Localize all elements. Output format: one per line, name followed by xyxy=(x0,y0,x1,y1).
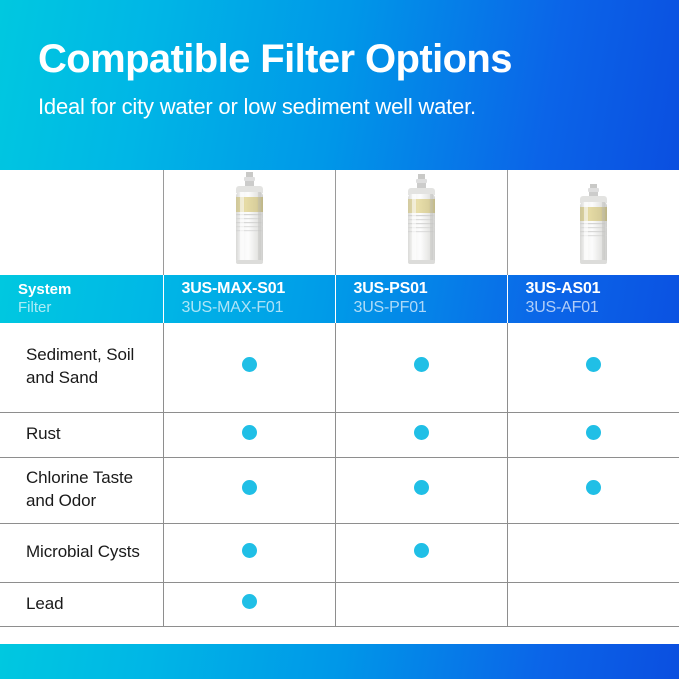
cell-r1-c2 xyxy=(507,412,679,457)
empty-cell-marker xyxy=(414,594,429,609)
check-dot-icon xyxy=(414,357,429,372)
check-dot-icon xyxy=(242,543,257,558)
system-code-3: 3US-AS01 xyxy=(526,280,679,299)
row-label: Sediment, Soil and Sand xyxy=(0,323,163,412)
product-image-row xyxy=(0,170,679,275)
cell-r3-c0 xyxy=(163,523,335,582)
product-image-cell-2 xyxy=(335,170,507,275)
cell-r0-c1 xyxy=(335,323,507,412)
check-dot-icon xyxy=(242,357,257,372)
row-label: Chlorine Taste and Odor xyxy=(0,457,163,523)
header-label-system: System xyxy=(18,281,163,299)
page-title: Compatible Filter Options xyxy=(38,38,643,80)
check-dot-icon xyxy=(586,480,601,495)
page-subtitle: Ideal for city water or low sediment wel… xyxy=(38,94,643,120)
table-row: Rust xyxy=(0,412,679,457)
footer-gradient-bar xyxy=(0,644,679,679)
header-cell-system-filter: System Filter xyxy=(0,275,163,323)
cell-r1-c0 xyxy=(163,412,335,457)
cell-r0-c0 xyxy=(163,323,335,412)
filter-code-3: 3US-AF01 xyxy=(526,299,679,318)
table-header-row: System Filter 3US-MAX-S01 3US-MAX-F01 3U… xyxy=(0,275,679,323)
row-label: Lead xyxy=(0,582,163,626)
check-dot-icon xyxy=(414,425,429,440)
cell-r2-c2 xyxy=(507,457,679,523)
header-cell-product-1: 3US-MAX-S01 3US-MAX-F01 xyxy=(163,275,335,323)
water-filter-cartridge-icon xyxy=(222,170,276,273)
cell-r3-c2 xyxy=(507,523,679,582)
row-label: Microbial Cysts xyxy=(0,523,163,582)
cell-r1-c1 xyxy=(335,412,507,457)
cell-r4-c2 xyxy=(507,582,679,626)
cell-r3-c1 xyxy=(335,523,507,582)
filter-code-1: 3US-MAX-F01 xyxy=(182,299,335,318)
header-label-filter: Filter xyxy=(18,299,163,317)
cell-r4-c0 xyxy=(163,582,335,626)
cell-r4-c1 xyxy=(335,582,507,626)
empty-cell-marker xyxy=(586,594,601,609)
empty-cell-marker xyxy=(586,543,601,558)
table-row: Microbial Cysts xyxy=(0,523,679,582)
header-banner: Compatible Filter Options Ideal for city… xyxy=(0,0,679,170)
check-dot-icon xyxy=(242,480,257,495)
water-filter-cartridge-icon xyxy=(568,182,618,273)
system-code-1: 3US-MAX-S01 xyxy=(182,280,335,299)
check-dot-icon xyxy=(242,594,257,609)
image-row-spacer xyxy=(0,170,163,275)
filter-code-2: 3US-PF01 xyxy=(354,299,507,318)
comparison-table-wrap: System Filter 3US-MAX-S01 3US-MAX-F01 3U… xyxy=(0,170,679,644)
infographic-page: Compatible Filter Options Ideal for city… xyxy=(0,0,679,679)
cell-r0-c2 xyxy=(507,323,679,412)
water-filter-cartridge-icon xyxy=(395,172,447,273)
compatibility-table: System Filter 3US-MAX-S01 3US-MAX-F01 3U… xyxy=(0,170,679,627)
row-label: Rust xyxy=(0,412,163,457)
table-row: Chlorine Taste and Odor xyxy=(0,457,679,523)
cell-r2-c0 xyxy=(163,457,335,523)
cell-r2-c1 xyxy=(335,457,507,523)
system-code-2: 3US-PS01 xyxy=(354,280,507,299)
product-image-cell-3 xyxy=(507,170,679,275)
check-dot-icon xyxy=(242,425,257,440)
header-cell-product-2: 3US-PS01 3US-PF01 xyxy=(335,275,507,323)
check-dot-icon xyxy=(586,425,601,440)
check-dot-icon xyxy=(586,357,601,372)
product-image-cell-1 xyxy=(163,170,335,275)
table-row: Sediment, Soil and Sand xyxy=(0,323,679,412)
check-dot-icon xyxy=(414,543,429,558)
header-cell-product-3: 3US-AS01 3US-AF01 xyxy=(507,275,679,323)
check-dot-icon xyxy=(414,480,429,495)
table-row: Lead xyxy=(0,582,679,626)
